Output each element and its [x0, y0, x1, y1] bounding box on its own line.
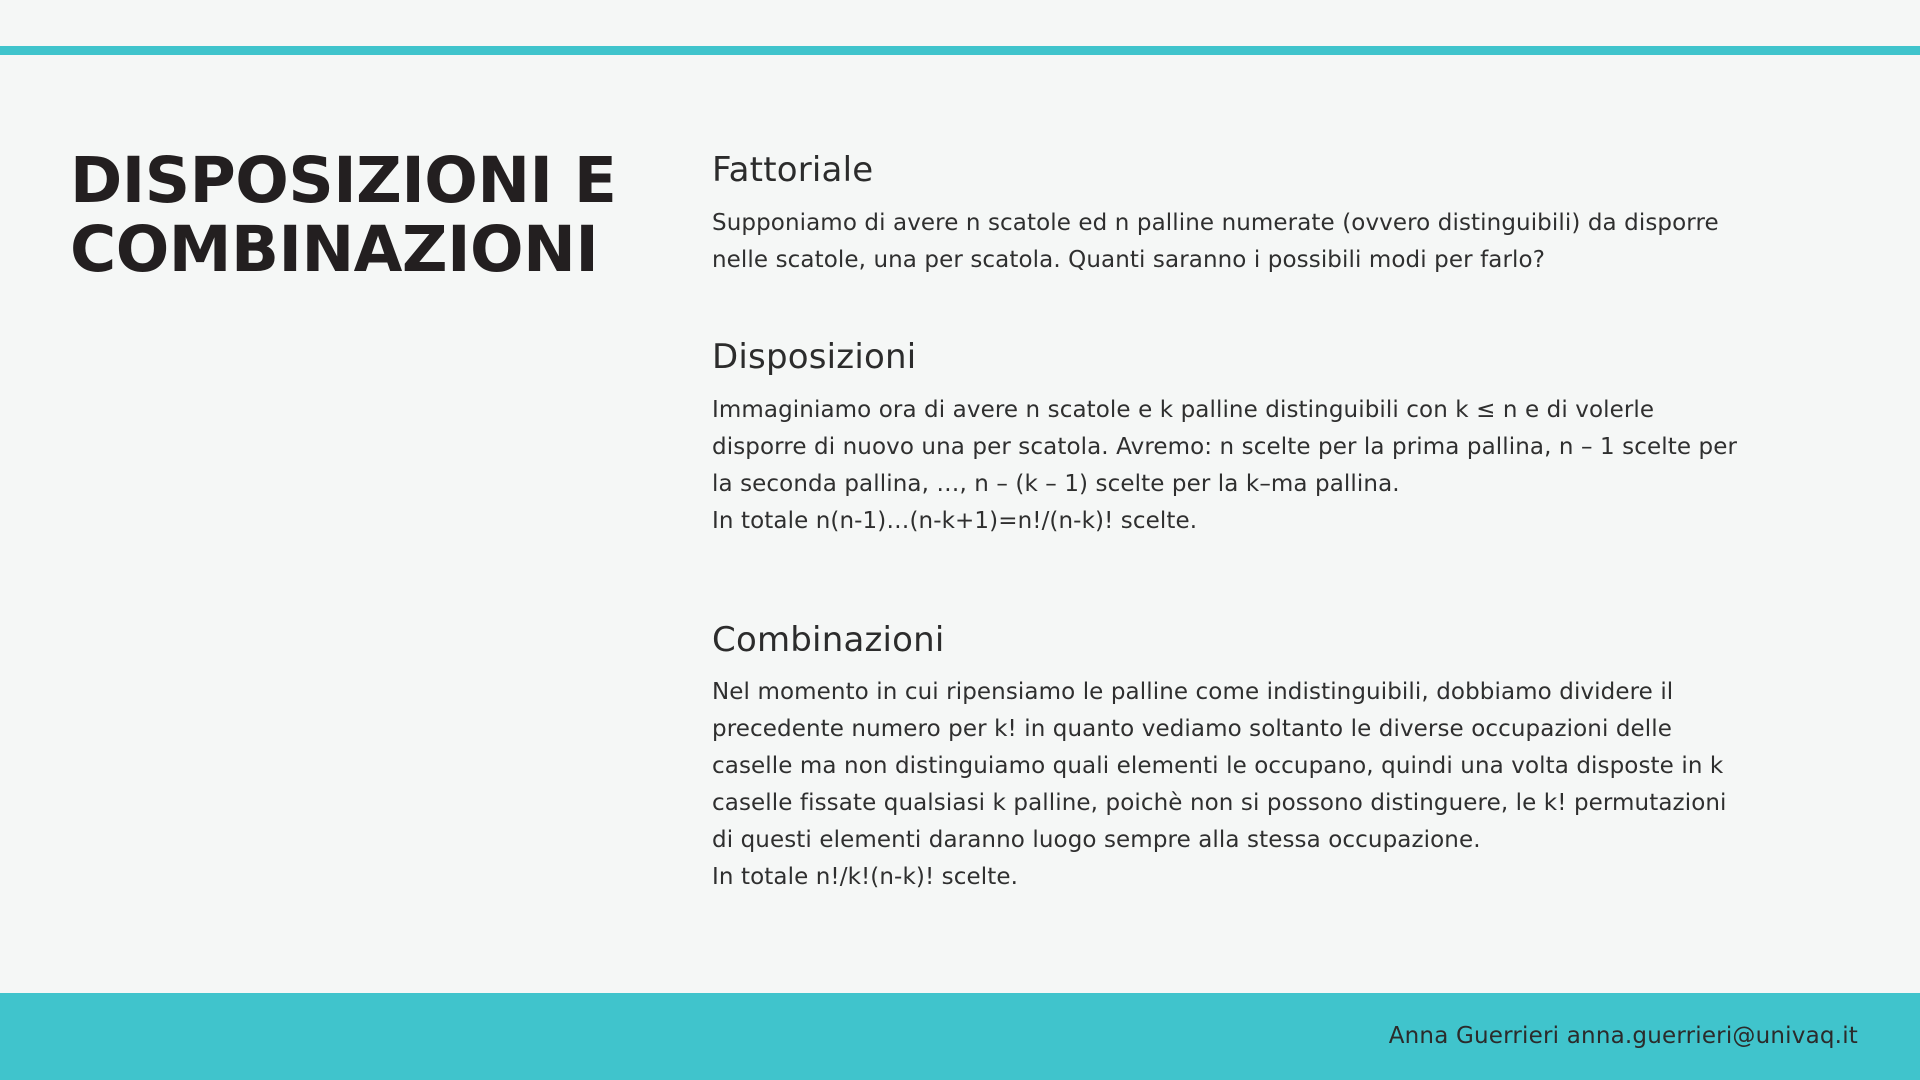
page-title-line-1: DISPOSIZIONI E — [70, 144, 616, 217]
section-body-disposizioni: Immaginiamo ora di avere n scatole e k p… — [712, 392, 1847, 540]
body-line: nelle scatole, una per scatola. Quanti s… — [712, 242, 1847, 279]
content-column: Fattoriale Supponiamo di avere n scatole… — [712, 150, 1862, 896]
body-line: la seconda pallina, …, n – (k – 1) scelt… — [712, 466, 1847, 503]
slide-root: DISPOSIZIONI ECOMBINAZIONI Fattoriale Su… — [0, 0, 1920, 1080]
body-line: Immaginiamo ora di avere n scatole e k p… — [712, 392, 1847, 429]
body-line: caselle ma non distinguiamo quali elemen… — [712, 748, 1847, 785]
top-accent-bar — [0, 46, 1920, 55]
page-title: DISPOSIZIONI ECOMBINAZIONI — [70, 146, 690, 285]
section-fattoriale: Fattoriale Supponiamo di avere n scatole… — [712, 150, 1862, 279]
footer-credit: Anna Guerrieri anna.guerrieri@univaq.it — [1389, 1023, 1858, 1049]
section-heading-fattoriale: Fattoriale — [712, 150, 1862, 191]
slide-title-block: DISPOSIZIONI ECOMBINAZIONI — [70, 146, 690, 285]
body-line: In totale n(n-1)…(n-k+1)=n!/(n-k)! scelt… — [712, 503, 1847, 540]
body-line: Nel momento in cui ripensiamo le palline… — [712, 674, 1847, 711]
body-line: precedente numero per k! in quanto vedia… — [712, 711, 1847, 748]
body-line: disporre di nuovo una per scatola. Avrem… — [712, 429, 1847, 466]
body-line: Supponiamo di avere n scatole ed n palli… — [712, 205, 1847, 242]
section-heading-combinazioni: Combinazioni — [712, 620, 1862, 661]
page-title-line-2: COMBINAZIONI — [70, 213, 598, 286]
body-line: di questi elementi daranno luogo sempre … — [712, 822, 1847, 859]
section-disposizioni: Disposizioni Immaginiamo ora di avere n … — [712, 337, 1862, 540]
section-heading-disposizioni: Disposizioni — [712, 337, 1862, 378]
body-line: In totale n!/k!(n-k)! scelte. — [712, 859, 1847, 896]
section-body-combinazioni: Nel momento in cui ripensiamo le palline… — [712, 674, 1847, 896]
body-line: caselle fissate qualsiasi k palline, poi… — [712, 785, 1847, 822]
section-combinazioni: Combinazioni Nel momento in cui ripensia… — [712, 620, 1862, 897]
section-body-fattoriale: Supponiamo di avere n scatole ed n palli… — [712, 205, 1847, 279]
